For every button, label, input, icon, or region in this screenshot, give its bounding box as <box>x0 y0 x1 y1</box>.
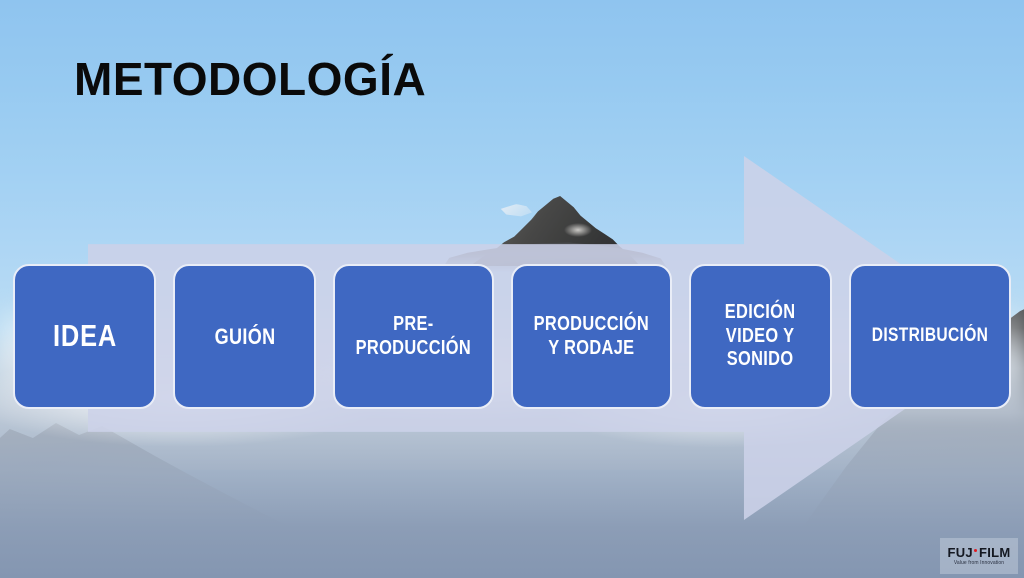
process-step-list: IDEA GUIÓN PRE- PRODUCCIÓN PRODUCCIÓN Y … <box>13 264 1011 409</box>
step-label: DISTRIBUCIÓN <box>872 325 988 347</box>
logo-red-dot-icon <box>974 549 977 552</box>
page-title: METODOLOGÍA <box>74 52 426 106</box>
step-label: GUIÓN <box>214 324 275 350</box>
step-label: IDEA <box>53 318 117 355</box>
step-box-guion[interactable]: GUIÓN <box>173 264 316 409</box>
step-box-produccion-rodaje[interactable]: PRODUCCIÓN Y RODAJE <box>511 264 672 409</box>
step-box-preproduccion[interactable]: PRE- PRODUCCIÓN <box>333 264 494 409</box>
fujifilm-logo: FUJ FILM Value from Innovation <box>940 538 1018 574</box>
logo-word-part2: FILM <box>979 546 1011 559</box>
logo-tagline: Value from Innovation <box>954 561 1004 566</box>
step-box-idea[interactable]: IDEA <box>13 264 156 409</box>
logo-wordmark: FUJ FILM <box>948 546 1011 559</box>
step-box-edicion-video-sonido[interactable]: EDICIÓN VIDEO Y SONIDO <box>689 264 832 409</box>
logo-word-part1: FUJ <box>948 546 973 559</box>
step-box-distribucion[interactable]: DISTRIBUCIÓN <box>849 264 1011 409</box>
step-label: PRODUCCIÓN Y RODAJE <box>534 313 649 360</box>
step-label: EDICIÓN VIDEO Y SONIDO <box>725 301 796 372</box>
step-label: PRE- PRODUCCIÓN <box>356 313 471 360</box>
slide-canvas: METODOLOGÍA IDEA GUIÓN PRE- PRODUCCIÓN P… <box>0 0 1024 578</box>
